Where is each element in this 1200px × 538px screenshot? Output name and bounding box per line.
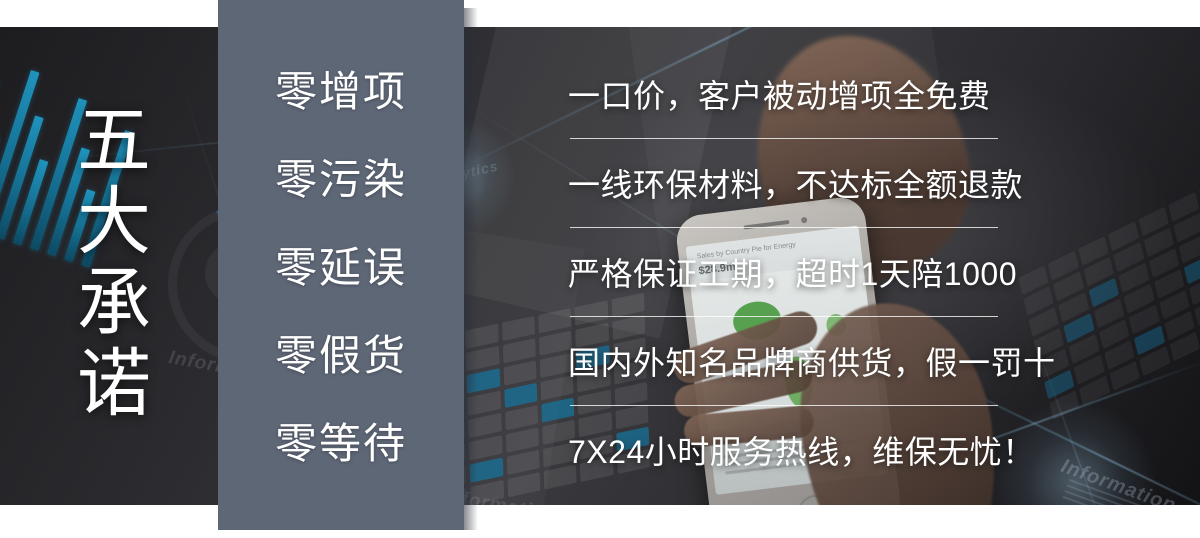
keyword-item: 零延误 xyxy=(218,224,464,312)
promise-row: 国内外知名品牌商供货，假一罚十 xyxy=(568,329,1000,418)
page-title: 五 大 承 诺 xyxy=(68,100,160,424)
promise-row: 一口价，客户被动增项全免费 xyxy=(568,62,1000,151)
promise-divider xyxy=(570,138,998,139)
promise-banner: Sales by Country Pie for Energy $28.9m M… xyxy=(0,0,1200,538)
panel-shadow xyxy=(464,8,478,530)
keyword-item: 零假货 xyxy=(218,312,464,400)
promise-text: 国内外知名品牌商供货，假一罚十 xyxy=(568,341,1056,385)
promise-divider xyxy=(570,405,998,406)
keyword-item: 零增项 xyxy=(218,48,464,136)
promise-text: 一线环保材料，不达标全额退款 xyxy=(568,163,1023,207)
keyword-list: 零增项 零污染 零延误 零假货 零等待 xyxy=(218,42,464,488)
promise-divider xyxy=(570,227,998,228)
promise-row: 严格保证工期，超时1天陪1000 xyxy=(568,240,1000,329)
title-char: 大 xyxy=(68,181,160,262)
title-char: 承 xyxy=(68,262,160,343)
promise-list: 一口价，客户被动增项全免费 一线环保材料，不达标全额退款 严格保证工期，超时1天… xyxy=(568,62,1000,507)
promise-row: 一线环保材料，不达标全额退款 xyxy=(568,151,1000,240)
keyword-panel: 零增项 零污染 零延误 零假货 零等待 xyxy=(218,0,464,530)
promise-text: 7X24小时服务热线，维保无忧！ xyxy=(568,430,1035,474)
promise-text: 一口价，客户被动增项全免费 xyxy=(568,74,991,118)
promise-row: 7X24小时服务热线，维保无忧！ xyxy=(568,418,1000,507)
promise-text: 严格保证工期，超时1天陪1000 xyxy=(568,252,1017,296)
promise-divider xyxy=(570,316,998,317)
keyword-item: 零污染 xyxy=(218,136,464,224)
title-char: 诺 xyxy=(68,343,160,424)
title-char: 五 xyxy=(68,100,160,181)
keyword-item: 零等待 xyxy=(218,400,464,488)
